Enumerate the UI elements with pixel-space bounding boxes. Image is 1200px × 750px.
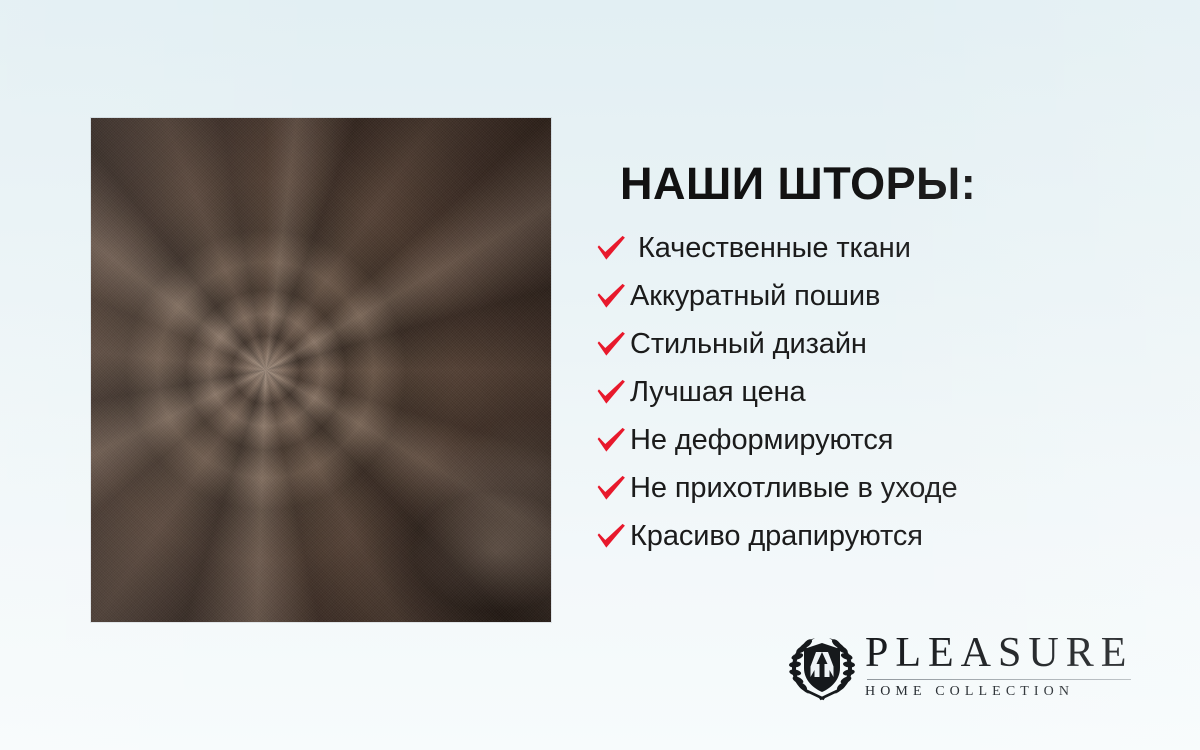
- check-icon: [596, 475, 626, 501]
- list-item-label: Качественные ткани: [630, 234, 911, 263]
- content-column: НАШИ ШТОРЫ: Качественные ткани Аккуратны…: [596, 160, 1116, 567]
- logo-tagline: HOME COLLECTION: [865, 685, 1133, 699]
- brand-logo: PLEASURE HOME COLLECTION: [785, 628, 1115, 704]
- list-item: Качественные ткани: [596, 231, 1116, 279]
- fabric-photo: [91, 118, 551, 622]
- logo-text-block: PLEASURE HOME COLLECTION: [865, 628, 1133, 699]
- benefits-list: Качественные ткани Аккуратный пошив Стил…: [596, 231, 1116, 567]
- check-icon: [596, 283, 626, 309]
- check-icon: [596, 235, 626, 261]
- list-item: Не деформируются: [596, 423, 1116, 471]
- list-item-label: Не прихотливые в уходе: [630, 474, 958, 503]
- page-title: НАШИ ШТОРЫ:: [620, 160, 1116, 207]
- check-icon: [596, 331, 626, 357]
- list-item: Красиво драпируются: [596, 519, 1116, 567]
- fabric-vignette: [91, 118, 551, 622]
- list-item: Лучшая цена: [596, 375, 1116, 423]
- logo-wordmark: PLEASURE: [865, 632, 1133, 674]
- list-item-label: Лучшая цена: [630, 378, 806, 407]
- logo-divider: [867, 679, 1131, 680]
- list-item-label: Не деформируются: [630, 426, 893, 455]
- check-icon: [596, 523, 626, 549]
- list-item: Стильный дизайн: [596, 327, 1116, 375]
- check-icon: [596, 379, 626, 405]
- list-item: Не прихотливые в уходе: [596, 471, 1116, 519]
- list-item-label: Аккуратный пошив: [630, 282, 880, 311]
- promo-poster: НАШИ ШТОРЫ: Качественные ткани Аккуратны…: [0, 0, 1200, 750]
- list-item-label: Красиво драпируются: [630, 522, 923, 551]
- list-item: Аккуратный пошив: [596, 279, 1116, 327]
- check-icon: [596, 427, 626, 453]
- list-item-label: Стильный дизайн: [630, 330, 867, 359]
- laurel-wreath-shield-icon: [785, 630, 859, 704]
